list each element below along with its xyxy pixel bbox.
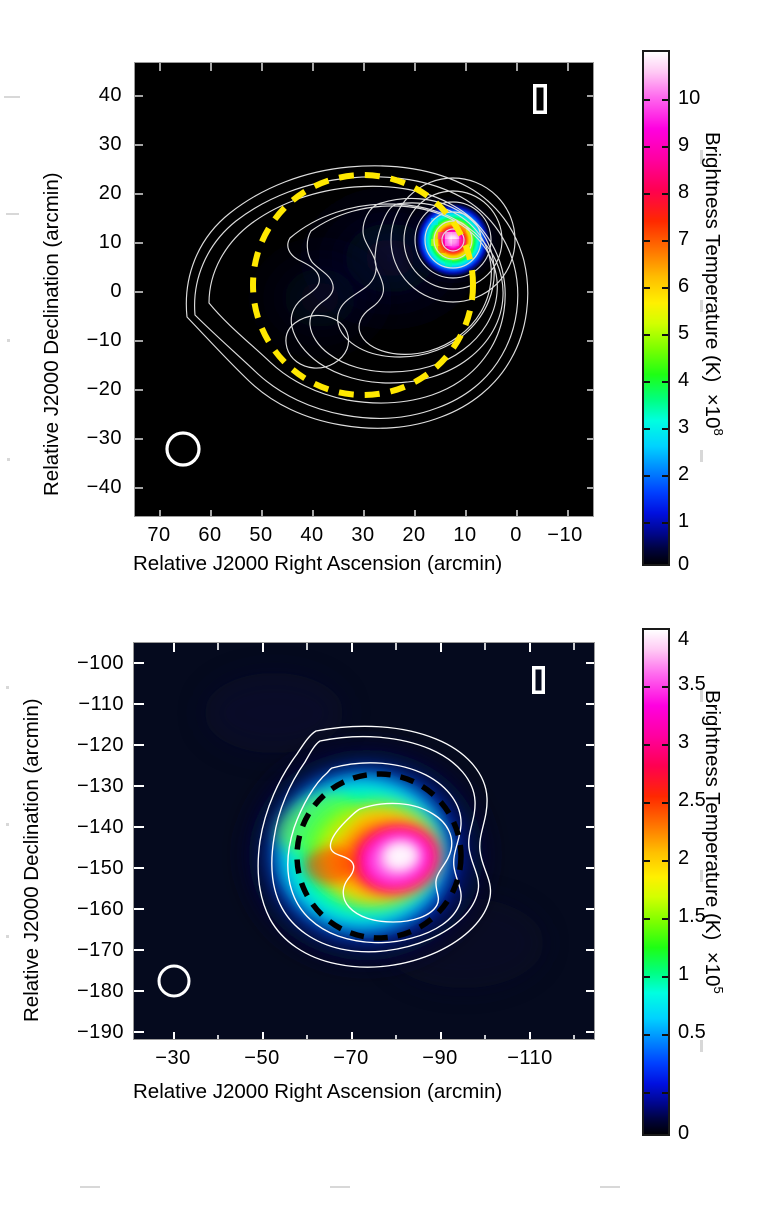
speckle <box>6 823 9 826</box>
colorbar-top-multiplier: ×10 <box>701 394 724 429</box>
bottom-xtick-label: −110 <box>484 1047 576 1070</box>
cb-tick <box>662 334 668 336</box>
colorbar-bottom-gradient <box>644 630 668 1134</box>
cbtop-tick-label: 9 <box>678 134 689 157</box>
cb-tick <box>644 976 650 978</box>
cbbottom-tick-label: 4 <box>678 628 689 651</box>
speckle <box>6 213 19 215</box>
cb-tick <box>644 1034 650 1036</box>
cb-tick <box>662 99 668 101</box>
cb-tick <box>662 686 668 688</box>
cbtop-tick-label: 2 <box>678 463 689 486</box>
cb-tick <box>662 976 668 978</box>
cb-tick <box>662 744 668 746</box>
cbbottom-tick-label: 1 <box>678 963 689 986</box>
colorbar-top-exponent: 8 <box>711 428 726 435</box>
top-ytick-label: 0 <box>60 280 122 303</box>
cb-tick <box>644 381 650 383</box>
cb-tick <box>644 428 650 430</box>
cbtop-tick-label: 10 <box>678 87 700 110</box>
bottom-xaxis-title: Relative J2000 Right Ascension (arcmin) <box>133 1080 502 1104</box>
cb-tick <box>644 686 650 688</box>
cb-tick <box>662 1092 668 1094</box>
cb-tick <box>644 287 650 289</box>
colorbar-top-title: Brightness Temperature (K) ×108 <box>700 132 726 436</box>
speckle <box>7 339 10 342</box>
bottom-panel-canvas <box>134 643 595 1040</box>
figure-root: 40 30 20 10 0 −10 −20 −30 −40 Relative J… <box>0 0 762 1225</box>
cb-tick <box>644 334 650 336</box>
top-ytick-label: 10 <box>60 231 122 254</box>
colorbar-bottom-exponent: 5 <box>711 986 726 993</box>
speckle <box>600 1186 620 1188</box>
cb-tick <box>644 1092 650 1094</box>
top-xtick-label: −10 <box>534 524 596 547</box>
bottom-xtick-label: −90 <box>400 1047 480 1070</box>
cb-tick <box>644 522 650 524</box>
colorbar-bottom-multiplier: ×10 <box>701 952 724 987</box>
top-yaxis-title: Relative J2000 Declination (arcmin) <box>40 172 64 496</box>
colorbar-bottom[interactable] <box>642 628 670 1136</box>
scalebar-marker <box>533 84 547 114</box>
colorbar-bottom-title: Brightness Temperature (K) ×105 <box>700 690 726 994</box>
cbbottom-tick-label: 2 <box>678 847 689 870</box>
bottom-ytick-label: −190 <box>28 1021 124 1044</box>
colorbar-top[interactable] <box>642 50 670 566</box>
scalebar-marker <box>532 666 545 694</box>
cb-tick <box>644 860 650 862</box>
cb-tick <box>662 475 668 477</box>
cbbottom-tick-label: 0 <box>678 1122 689 1145</box>
cb-tick <box>644 744 650 746</box>
cb-tick <box>644 193 650 195</box>
cbbottom-tick-label: 0.5 <box>678 1021 706 1044</box>
speckle <box>7 458 10 461</box>
cbtop-tick-label: 0 <box>678 553 689 576</box>
cbtop-tick-label: 8 <box>678 181 689 204</box>
cb-tick <box>644 918 650 920</box>
panel-bottom-image[interactable] <box>133 642 595 1040</box>
colorbar-bottom-label-text: Brightness Temperature (K) <box>701 690 724 940</box>
bottom-xtick-label: −70 <box>311 1047 391 1070</box>
cb-tick <box>662 860 668 862</box>
cb-tick <box>644 99 650 101</box>
cbbottom-tick-label: 3 <box>678 731 689 754</box>
cb-tick <box>662 1034 668 1036</box>
speckle <box>80 1186 100 1188</box>
bottom-xtick-label: −30 <box>133 1047 213 1070</box>
cb-tick <box>662 193 668 195</box>
cb-tick <box>644 802 650 804</box>
top-ytick-label: 30 <box>60 133 122 156</box>
speckle <box>4 96 20 98</box>
cb-tick <box>662 287 668 289</box>
cbtop-tick-label: 7 <box>678 228 689 251</box>
cb-tick <box>662 802 668 804</box>
cb-tick <box>644 240 650 242</box>
cb-tick <box>662 918 668 920</box>
bottom-ytick-label: −100 <box>28 652 124 675</box>
cb-tick <box>644 146 650 148</box>
cb-tick <box>644 475 650 477</box>
speckle <box>330 1186 350 1188</box>
cb-tick <box>662 146 668 148</box>
colorbar-top-label-text: Brightness Temperature (K) <box>701 132 724 382</box>
cbtop-tick-label: 4 <box>678 369 689 392</box>
top-ytick-label: 20 <box>60 182 122 205</box>
speckle <box>6 686 9 689</box>
cb-tick <box>662 428 668 430</box>
panel-top-image[interactable] <box>134 62 594 517</box>
cb-tick <box>662 522 668 524</box>
bottom-xtick-label: −50 <box>222 1047 302 1070</box>
speckle <box>700 450 703 462</box>
speckle <box>6 935 9 938</box>
cbtop-tick-label: 6 <box>678 275 689 298</box>
top-xaxis-title: Relative J2000 Right Ascension (arcmin) <box>133 552 502 576</box>
top-panel-canvas <box>135 63 594 517</box>
top-ytick-label: 40 <box>60 84 122 107</box>
cbtop-tick-label: 1 <box>678 510 689 533</box>
cb-tick <box>662 240 668 242</box>
colorbar-top-gradient <box>644 52 668 564</box>
bottom-yaxis-title: Relative J2000 Declination (arcmin) <box>20 698 44 1022</box>
cbtop-tick-label: 5 <box>678 322 689 345</box>
cbtop-tick-label: 3 <box>678 416 689 439</box>
cb-tick <box>662 381 668 383</box>
